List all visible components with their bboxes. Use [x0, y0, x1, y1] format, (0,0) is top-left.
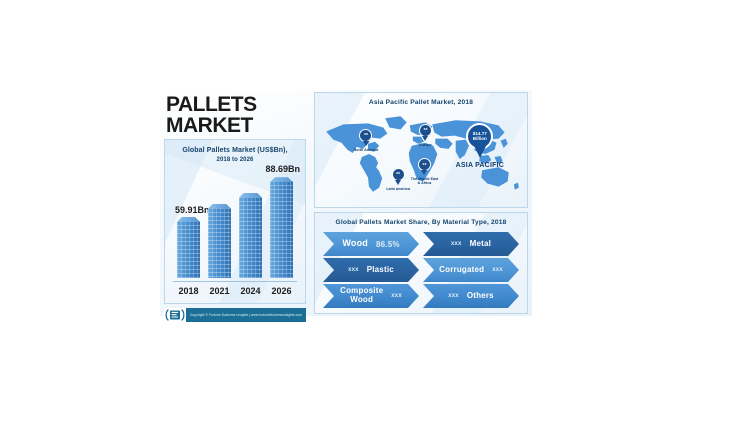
marker-value: $14.77 Billion [473, 131, 487, 142]
page-title: PALLETS MARKET [164, 92, 310, 139]
chart-plot-area: 59.91Bn 88.69Bn [165, 166, 305, 303]
material-label: Others [467, 292, 494, 301]
map-pin-icon: xx [419, 124, 432, 137]
x-tick-2021: 2021 [208, 286, 231, 296]
material-value: xxx [391, 293, 402, 299]
fortune-business-insights-logo-icon [164, 308, 186, 322]
bar-2024 [239, 197, 262, 278]
chart-title: Global Pallets Market (US$Bn), 2018 to 2… [165, 140, 305, 165]
marker-value: xx [396, 172, 400, 176]
material-value: xxx [448, 293, 459, 299]
material-type-arrows: Wood 86.5% xxx Plastic Composite Wood xx… [315, 226, 527, 308]
x-tick-2018: 2018 [177, 286, 200, 296]
material-label: Composite Wood [340, 287, 383, 305]
material-value: xxx [348, 267, 359, 273]
world-map: xx North America xx Latin America xx [319, 107, 523, 205]
material-item-metal[interactable]: xxx Metal [423, 232, 519, 256]
map-panel-title: Asia Pacific Pallet Market, 2018 [315, 93, 527, 106]
bar-2018: 59.91Bn [177, 221, 200, 278]
map-marker-asia-pacific[interactable]: $14.77 Billion ASIA PACIFIC [456, 123, 504, 171]
marker-label: Latin America [386, 187, 410, 191]
marker-value: xx [364, 133, 368, 137]
right-column: Asia Pacific Pallet Market, 2018 [314, 92, 528, 314]
material-item-others[interactable]: xxx Others [423, 284, 519, 308]
marker-value: xx [423, 128, 427, 132]
material-label: Corrugated [439, 266, 484, 275]
chart-title-line1: Global Pallets Market (US$Bn), [182, 147, 287, 154]
bar-2021 [208, 208, 231, 278]
material-column-left: Wood 86.5% xxx Plastic Composite Wood xx… [323, 232, 419, 308]
material-value: 86.5% [376, 240, 400, 249]
chart-title-line2: 2018 to 2026 [217, 157, 254, 163]
copyright-text: Copyright © Fortune Business Insights | … [186, 313, 302, 317]
bar-2026: 88.69Bn [270, 181, 293, 278]
bar-series: 59.91Bn 88.69Bn [173, 168, 297, 278]
marker-label: The Middle East & Africa [411, 177, 438, 186]
marker-value: xx [422, 163, 426, 167]
material-value: xxx [492, 267, 503, 273]
map-panel: Asia Pacific Pallet Market, 2018 [314, 92, 528, 208]
x-tick-2026: 2026 [270, 286, 293, 296]
left-column: PALLETS MARKET Global Pallets Market (US… [164, 92, 310, 314]
material-column-right: xxx Metal Corrugated xxx xxx Others [423, 232, 519, 308]
screenshot-canvas: PALLETS MARKET Global Pallets Market (US… [0, 0, 750, 422]
x-tick-2024: 2024 [239, 286, 262, 296]
map-pin-icon: xx [392, 168, 405, 181]
bar-item: 88.69Bn [270, 168, 293, 278]
material-item-plastic[interactable]: xxx Plastic [323, 258, 419, 282]
marker-label: Europe [419, 143, 432, 147]
material-label: Metal [470, 240, 491, 249]
material-value: xxx [451, 241, 462, 247]
material-item-composite-wood[interactable]: Composite Wood xxx [323, 284, 419, 308]
material-label: Plastic [367, 266, 394, 275]
bar-chart-card: Global Pallets Market (US$Bn), 2018 to 2… [164, 139, 306, 304]
map-pin-icon: $14.77 Billion [466, 123, 493, 150]
bar-item [239, 168, 262, 278]
map-pin-icon: xx [418, 158, 431, 171]
map-marker-latin-america[interactable]: xx Latin America [386, 168, 410, 191]
material-share-panel: Global Pallets Market Share, By Material… [314, 212, 528, 314]
footer-bar: Copyright © Fortune Business Insights | … [164, 308, 306, 322]
share-panel-title: Global Pallets Market Share, By Material… [315, 213, 527, 226]
chart-x-axis: 2018 2021 2024 2026 [173, 281, 297, 299]
marker-label: North America [354, 148, 379, 152]
map-pin-icon: xx [359, 129, 372, 142]
map-marker-europe[interactable]: xx Europe [419, 124, 432, 147]
infographic: PALLETS MARKET Global Pallets Market (US… [160, 90, 532, 316]
bar-item: 59.91Bn [177, 168, 200, 278]
material-label: Wood [342, 239, 368, 249]
map-marker-middle-east-africa[interactable]: xx The Middle East & Africa [411, 158, 438, 186]
bar-item [208, 168, 231, 278]
marker-label: ASIA PACIFIC [456, 162, 504, 171]
bar-value-label-2018: 59.91Bn [175, 205, 210, 215]
bar-value-label-2026: 88.69Bn [265, 164, 300, 174]
material-item-wood[interactable]: Wood 86.5% [323, 232, 419, 256]
material-item-corrugated[interactable]: Corrugated xxx [423, 258, 519, 282]
map-marker-north-america[interactable]: xx North America [354, 129, 379, 152]
